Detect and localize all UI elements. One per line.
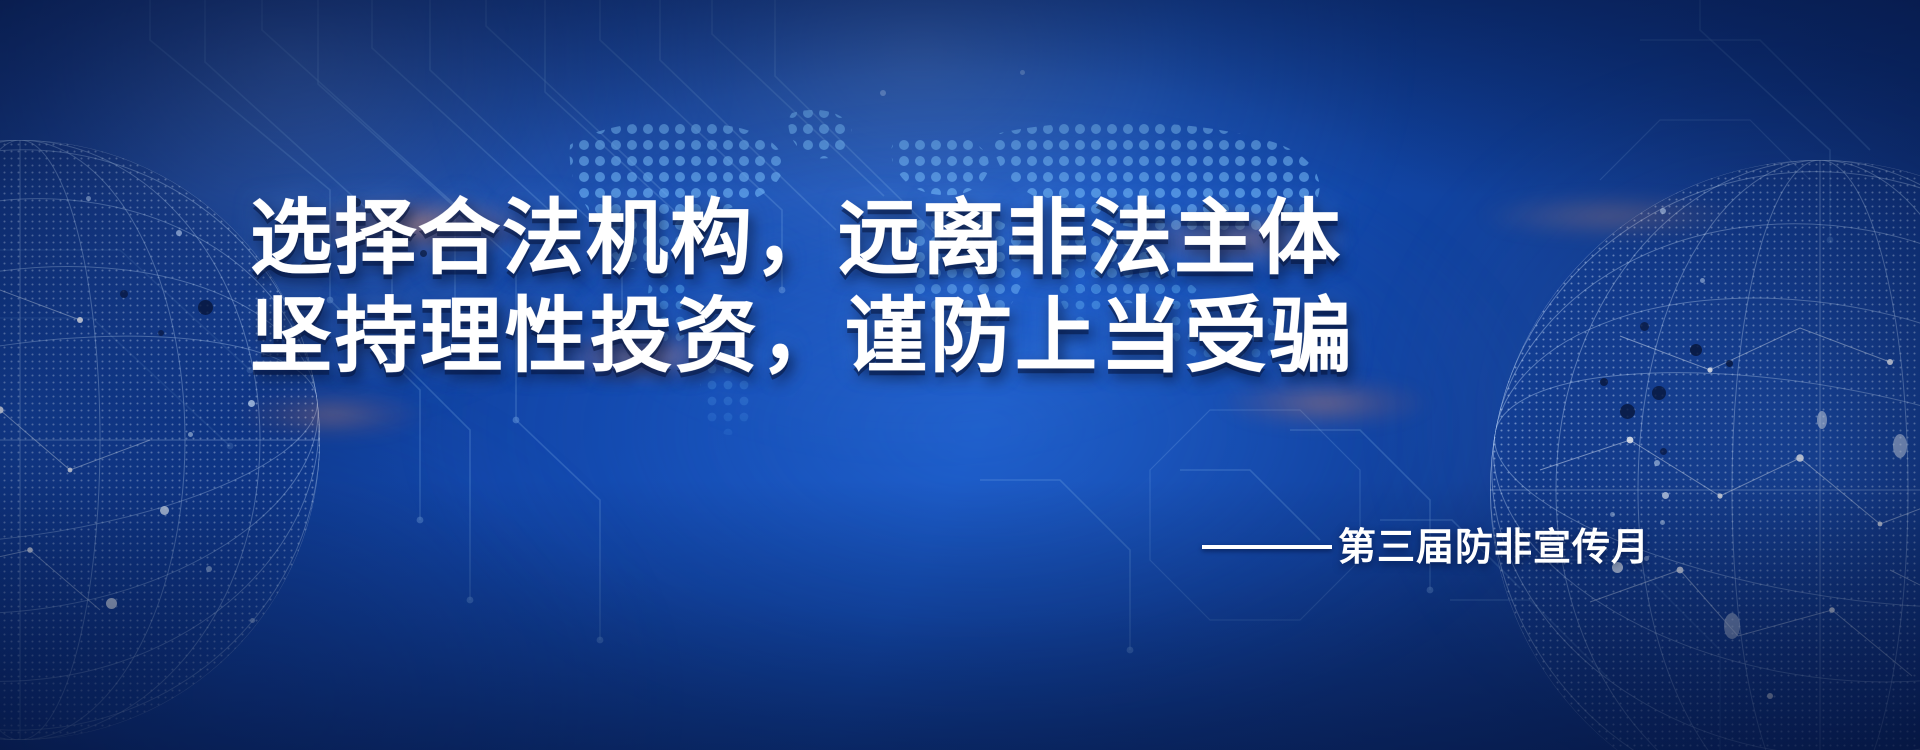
headline-block: 选择合法机构，远离非法主体 坚持理性投资，谨防上当受骗 bbox=[250, 190, 1370, 386]
attribution-dash-icon bbox=[1202, 545, 1332, 549]
headline-line-1: 选择合法机构，远离非法主体 bbox=[250, 190, 1370, 288]
headline-line-2: 坚持理性投资，谨防上当受骗 bbox=[250, 288, 1370, 386]
promo-banner: 选择合法机构，远离非法主体 坚持理性投资，谨防上当受骗 第三届防非宣传月 bbox=[0, 0, 1920, 750]
attribution-block: 第三届防非宣传月 bbox=[1202, 524, 1650, 570]
attribution-text: 第三届防非宣传月 bbox=[1338, 524, 1650, 570]
